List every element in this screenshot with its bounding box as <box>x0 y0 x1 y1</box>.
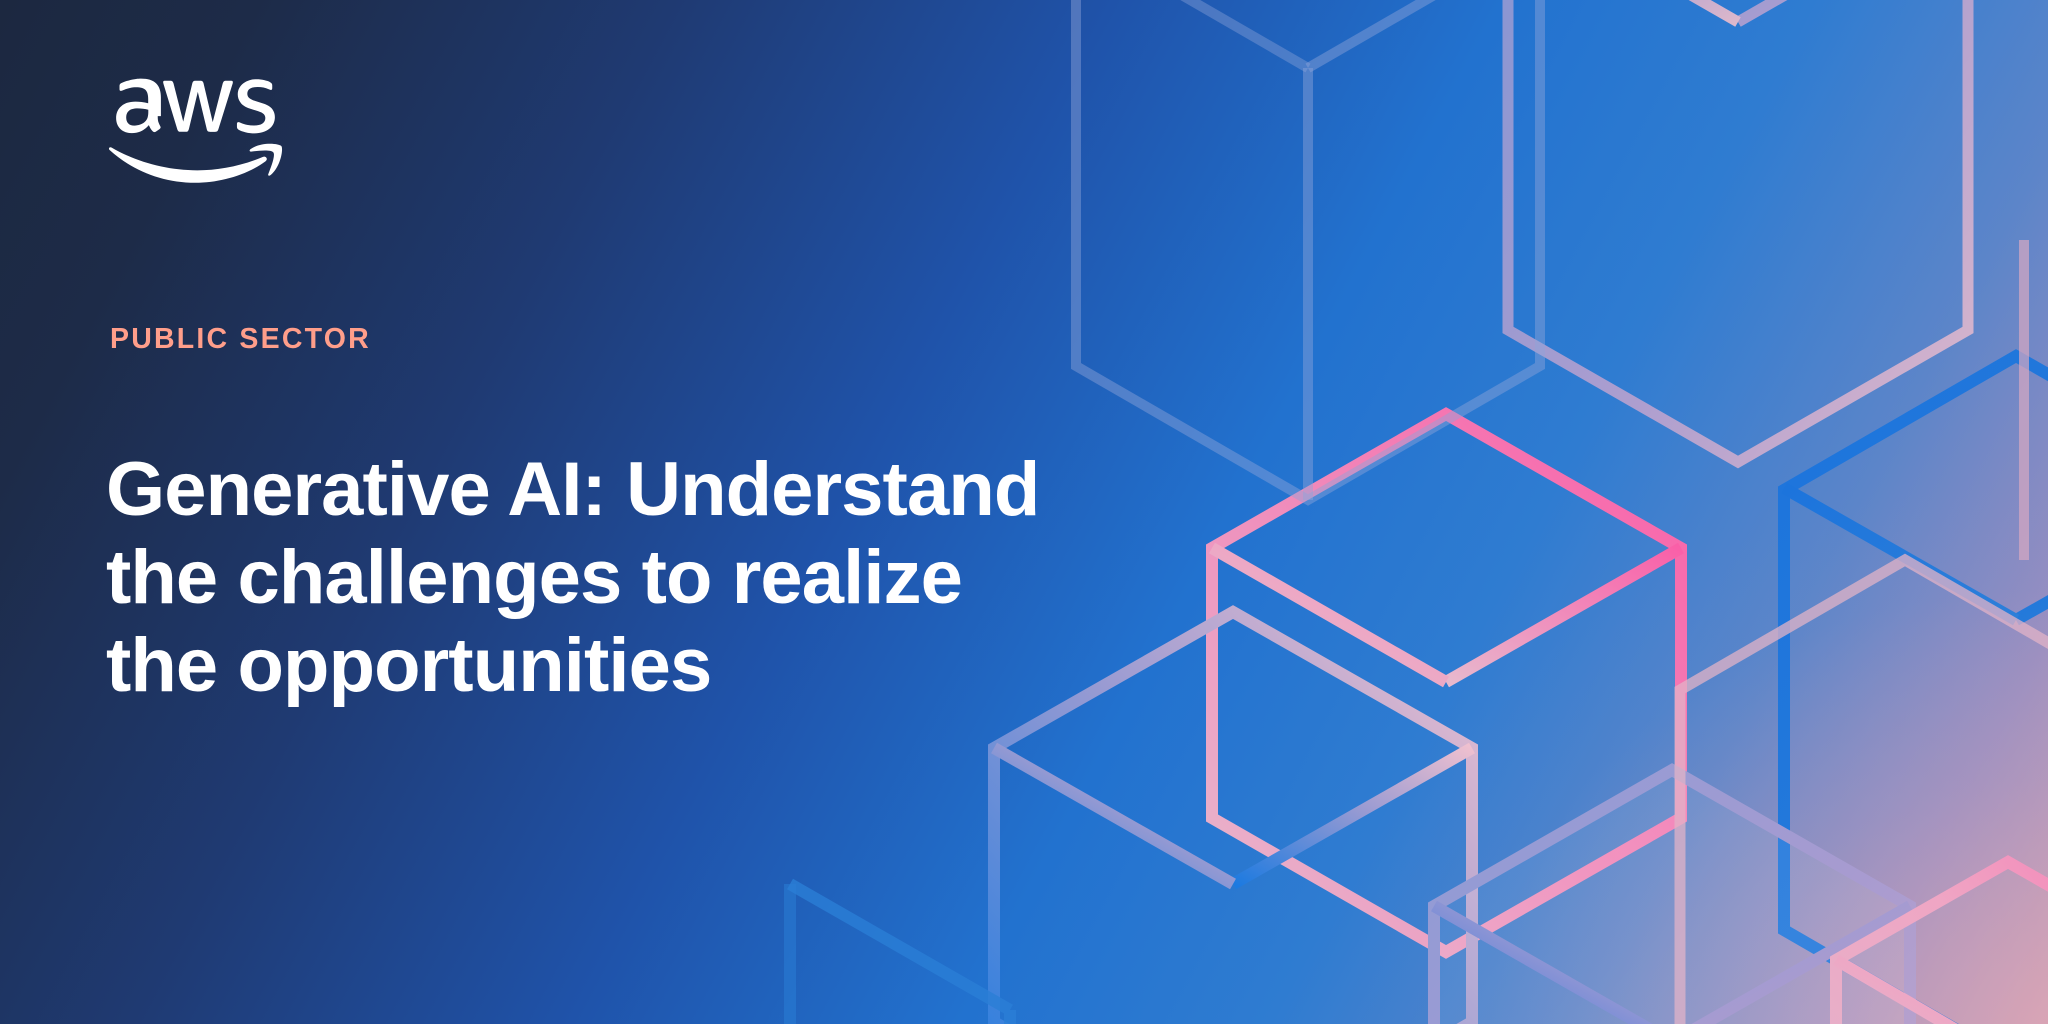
headline-line-3: the opportunities <box>106 622 1086 710</box>
banner-content: PUBLIC SECTOR Generative AI: Understand … <box>0 0 1100 1024</box>
headline-line-1: Generative AI: Understand <box>106 446 1086 534</box>
page-title: Generative AI: Understand the challenges… <box>106 446 1086 710</box>
eyebrow-label: PUBLIC SECTOR <box>110 323 371 356</box>
banner-canvas: PUBLIC SECTOR Generative AI: Understand … <box>0 0 2048 1024</box>
headline-line-2: the challenges to realize <box>106 534 1086 622</box>
aws-logo-icon[interactable] <box>108 76 283 186</box>
